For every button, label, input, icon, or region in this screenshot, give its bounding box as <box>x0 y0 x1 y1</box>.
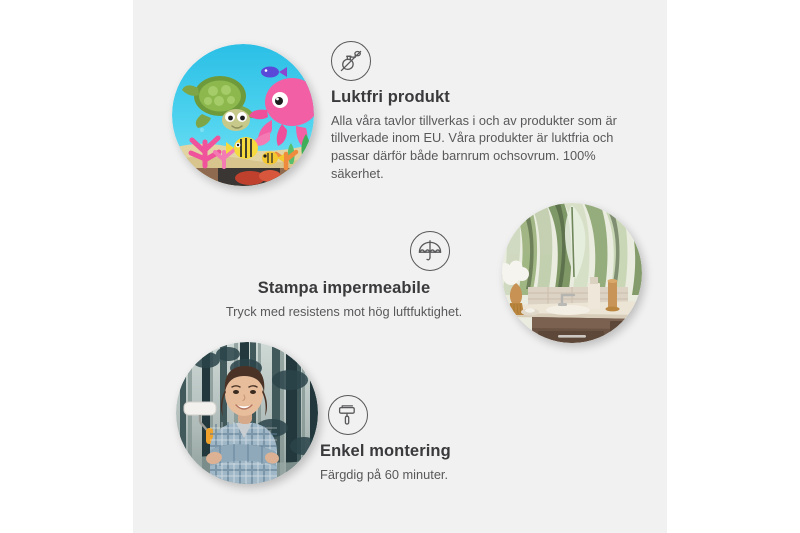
paint-roller-icon <box>328 395 368 435</box>
feature-title: Luktfri produkt <box>331 88 627 108</box>
feature-assembly: Enkel montering Färgdig på 60 minuter. <box>320 395 508 483</box>
feature-title: Stampa impermeabile <box>220 279 468 299</box>
feature-odourless: Luktfri produkt Alla våra tavlor tillver… <box>331 41 627 182</box>
no-odour-spray-bottle-icon <box>331 41 371 81</box>
feature-waterproof: Stampa impermeabile Tryck med resistens … <box>220 231 468 320</box>
feature-body: Färgdig på 60 minuter. <box>320 466 508 484</box>
photo-forest <box>176 342 318 484</box>
umbrella-icon <box>410 231 450 271</box>
photo-underwater <box>172 44 314 186</box>
feature-body: Alla våra tavlor tillverkas i och av pro… <box>331 112 627 183</box>
painter-forest-photo <box>176 342 318 484</box>
underwater-illustration <box>172 44 314 186</box>
bathroom-photo <box>502 203 642 343</box>
promo-banner: Luktfri produkt Alla våra tavlor tillver… <box>0 0 800 533</box>
photo-bathroom <box>502 203 642 343</box>
feature-body: Tryck med resistens mot hög luftfuktighe… <box>220 303 468 321</box>
feature-title: Enkel montering <box>320 442 508 462</box>
